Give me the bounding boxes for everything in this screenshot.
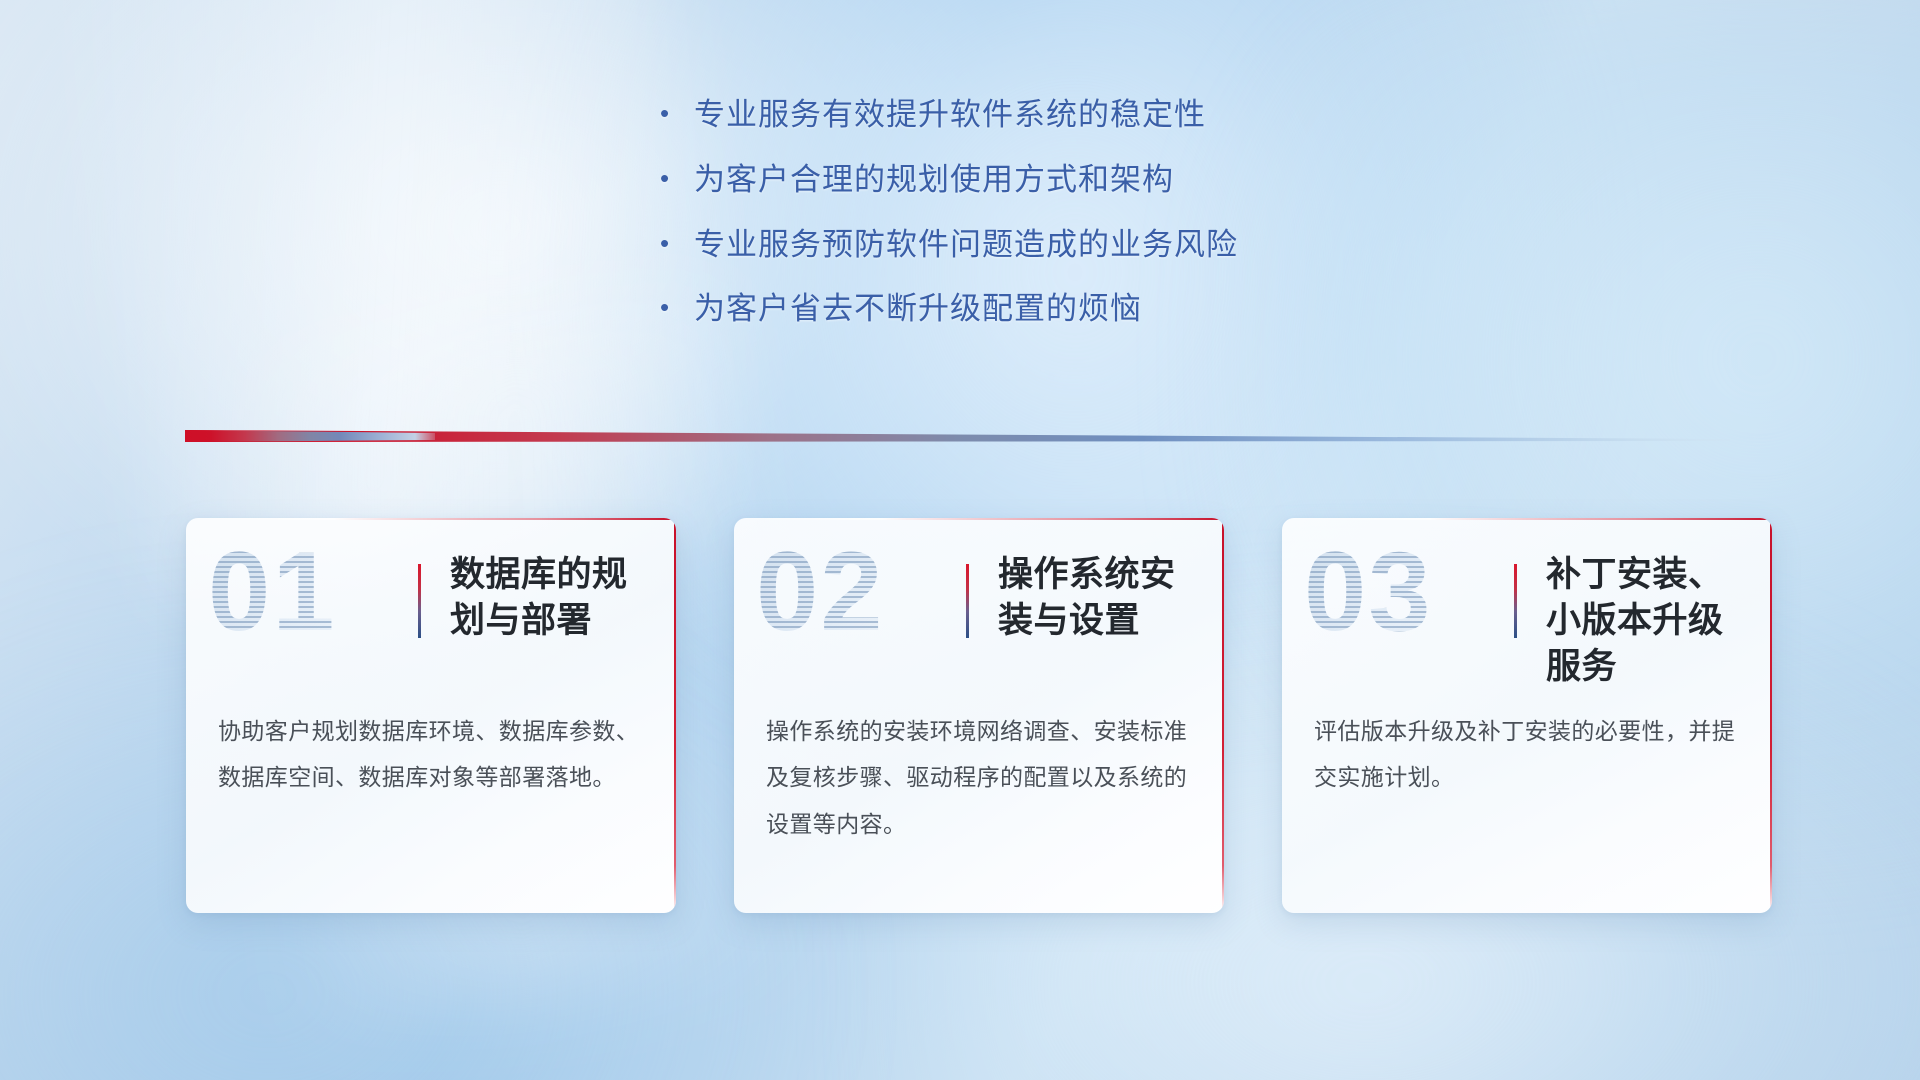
bullet-marker-icon: •: [660, 230, 694, 256]
divider-shape-icon: [185, 428, 1730, 446]
card-number-watermark: 01: [208, 536, 337, 648]
bullet-item-1: • 专业服务有效提升软件系统的稳定性: [660, 96, 1238, 135]
card-title-rule-divider: [1514, 564, 1517, 638]
card-description: 协助客户规划数据库环境、数据库参数、数据库空间、数据库对象等部署落地。: [218, 708, 642, 801]
bullet-text-3: 专业服务预防软件问题造成的业务风险: [694, 226, 1238, 265]
card-number-watermark: 02: [756, 536, 885, 648]
card-description: 评估版本升级及补丁安装的必要性，并提交实施计划。: [1314, 708, 1738, 801]
card-number-watermark: 03: [1304, 536, 1433, 648]
bullet-marker-icon: •: [660, 165, 694, 191]
card-header: 02 操作系统安装与设置: [734, 518, 1224, 683]
card-title: 数据库的规划与部署: [450, 552, 660, 644]
bullet-item-3: • 专业服务预防软件问题造成的业务风险: [660, 226, 1238, 265]
card-header: 03 补丁安装、小版本升级服务: [1282, 518, 1772, 683]
bullet-text-1: 专业服务有效提升软件系统的稳定性: [694, 96, 1206, 135]
bullet-item-4: • 为客户省去不断升级配置的烦恼: [660, 290, 1238, 329]
card-title-rule-divider: [966, 564, 969, 638]
card-title-rule-divider: [418, 564, 421, 638]
service-card-2[interactable]: 02 操作系统安装与设置 操作系统的安装环境网络调查、安装标准及复核步骤、驱动程…: [734, 518, 1224, 913]
bullet-text-4: 为客户省去不断升级配置的烦恼: [694, 290, 1142, 329]
bullet-text-2: 为客户合理的规划使用方式和架构: [694, 161, 1174, 200]
service-card-3[interactable]: 03 补丁安装、小版本升级服务 评估版本升级及补丁安装的必要性，并提交实施计划。: [1282, 518, 1772, 913]
card-title: 操作系统安装与设置: [998, 552, 1208, 644]
service-cards-row: 01 数据库的规划与部署 协助客户规划数据库环境、数据库参数、数据库空间、数据库…: [186, 518, 1772, 913]
benefits-bullet-list: • 专业服务有效提升软件系统的稳定性 • 为客户合理的规划使用方式和架构 • 专…: [660, 96, 1238, 355]
card-description: 操作系统的安装环境网络调查、安装标准及复核步骤、驱动程序的配置以及系统的设置等内…: [766, 708, 1190, 847]
tapered-accent-divider: [185, 428, 1730, 446]
card-title: 补丁安装、小版本升级服务: [1546, 552, 1756, 691]
bullet-marker-icon: •: [660, 100, 694, 126]
card-header: 01 数据库的规划与部署: [186, 518, 676, 683]
bullet-marker-icon: •: [660, 294, 694, 320]
bullet-item-2: • 为客户合理的规划使用方式和架构: [660, 161, 1238, 200]
service-card-1[interactable]: 01 数据库的规划与部署 协助客户规划数据库环境、数据库参数、数据库空间、数据库…: [186, 518, 676, 913]
